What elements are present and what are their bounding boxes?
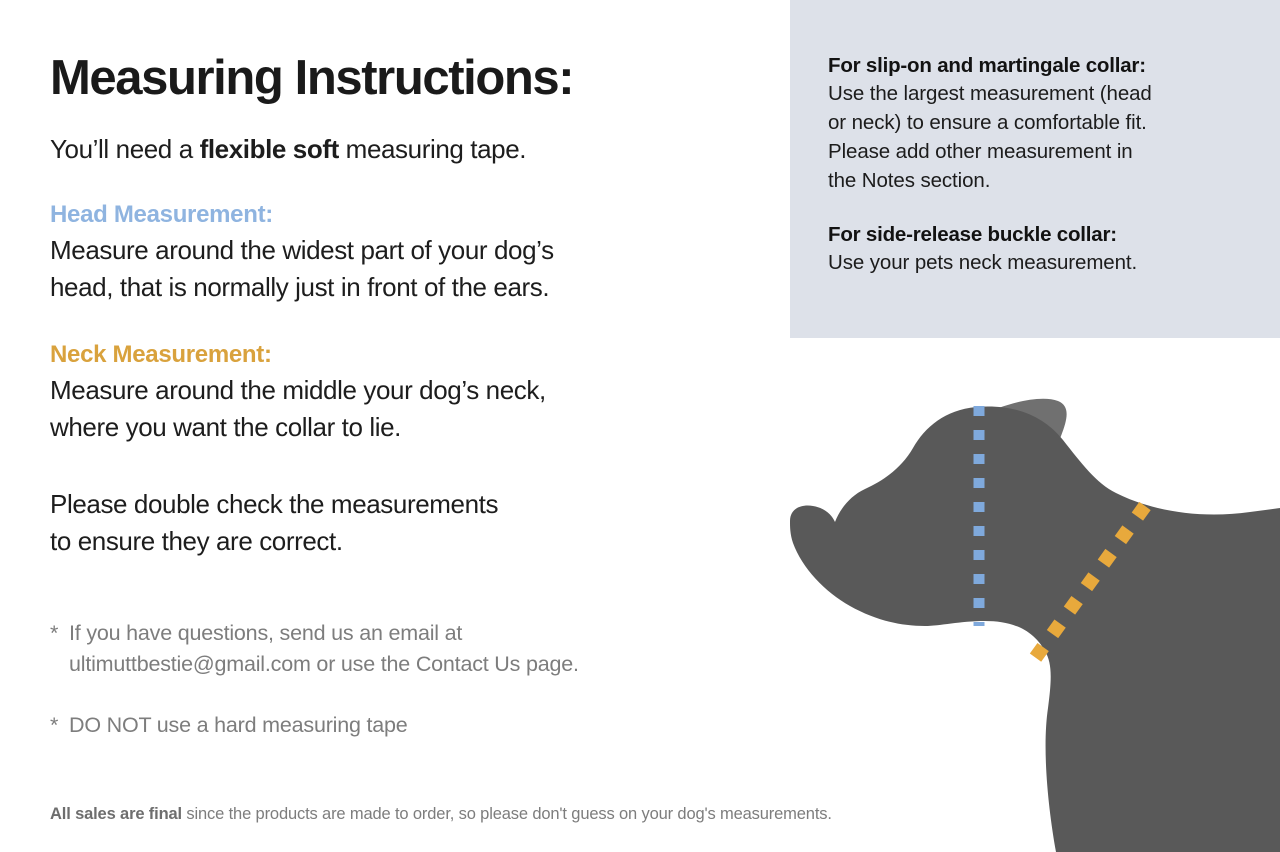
footnote-star: * <box>50 618 69 680</box>
footnote-line: DO NOT use a hard measuring tape <box>69 710 408 741</box>
section-neck-measurement-heading: Neck Measurement: <box>50 340 770 370</box>
info-line: the Notes section. <box>828 166 1244 195</box>
intro-line: You’ll need a flexible soft measuring ta… <box>50 132 770 166</box>
footnote-line-email: ultimuttbestie@gmail.com or use the Cont… <box>69 652 579 676</box>
body-line: Please double check the measurements <box>50 486 770 523</box>
intro-prefix: You’ll need a <box>50 134 200 164</box>
info-line: Use your pets neck measurement. <box>828 248 1244 277</box>
page-title: Measuring Instructions: <box>50 0 770 108</box>
intro-bold: flexible soft <box>200 134 339 164</box>
body-line: Measure around the middle your dog’s nec… <box>50 372 770 409</box>
dog-body-shape <box>790 406 1280 852</box>
section-neck-measurement: Neck Measurement: Measure around the mid… <box>50 340 770 446</box>
info-block-side-release-body: Use your pets neck measurement. <box>828 248 1244 277</box>
info-panel: For slip-on and martingale collar: Use t… <box>790 0 1280 338</box>
info-block-side-release-heading: For side-release buckle collar: <box>828 221 1244 248</box>
body-line: Measure around the widest part of your d… <box>50 232 770 269</box>
info-line: Please add other measurement in <box>828 137 1244 166</box>
double-check-note: Please double check the measurements to … <box>50 486 770 560</box>
disclaimer-rest: since the products are made to order, so… <box>182 805 832 823</box>
info-block-side-release: For side-release buckle collar: Use your… <box>828 221 1244 277</box>
footnote-text: If you have questions, send us an email … <box>69 618 579 680</box>
dog-head-and-neck-diagram <box>780 378 1280 852</box>
footnote-line: If you have questions, send us an email … <box>69 621 462 645</box>
intro-suffix: measuring tape. <box>339 134 526 164</box>
info-line: or neck) to ensure a comfortable fit. <box>828 108 1244 137</box>
info-block-slip-on-heading: For slip-on and martingale collar: <box>828 52 1244 79</box>
footnote-hard-tape: * DO NOT use a hard measuring tape <box>50 710 770 741</box>
info-block-slip-on-body: Use the largest measurement (head or nec… <box>828 79 1244 195</box>
disclaimer-bold: All sales are final <box>50 805 182 823</box>
footnote-star: * <box>50 710 69 741</box>
footnote-contact: * If you have questions, send us an emai… <box>50 618 770 680</box>
body-line: to ensure they are correct. <box>50 523 770 560</box>
info-block-slip-on: For slip-on and martingale collar: Use t… <box>828 52 1244 195</box>
body-line: where you want the collar to lie. <box>50 409 770 446</box>
section-head-measurement-heading: Head Measurement: <box>50 200 770 230</box>
section-head-measurement: Head Measurement: Measure around the wid… <box>50 200 770 306</box>
section-head-measurement-body: Measure around the widest part of your d… <box>50 232 770 306</box>
section-neck-measurement-body: Measure around the middle your dog’s nec… <box>50 372 770 446</box>
body-line: head, that is normally just in front of … <box>50 269 770 306</box>
info-line: Use the largest measurement (head <box>828 79 1244 108</box>
instructions-column: Measuring Instructions: You’ll need a fl… <box>50 0 770 741</box>
